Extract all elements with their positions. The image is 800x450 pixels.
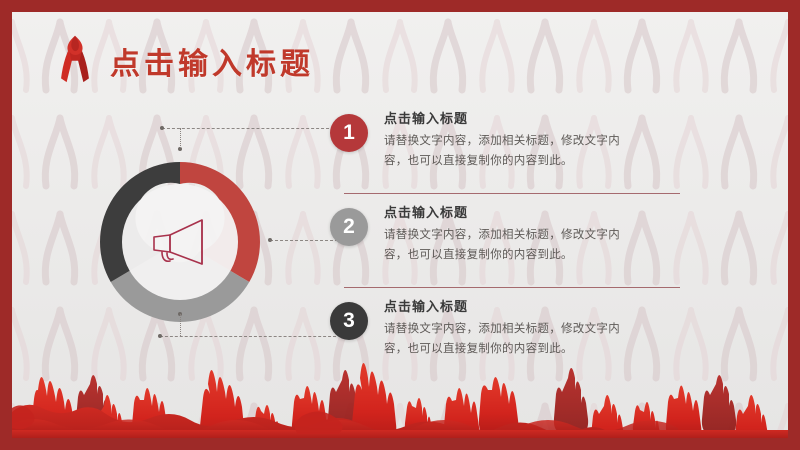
- item-title: 点击输入标题: [384, 108, 684, 127]
- page-title: 点击输入标题: [110, 39, 314, 83]
- item-number-badge: 1: [330, 114, 368, 152]
- item-description: 请替换文字内容，添加相关标题，修改文字内容，也可以直接复制你的内容到此。: [384, 225, 636, 265]
- aids-ribbon-icon: [52, 32, 98, 84]
- item-body: 点击输入标题 请替换文字内容，添加相关标题，修改文字内容，也可以直接复制你的内容…: [384, 296, 684, 359]
- item-divider: [344, 193, 680, 194]
- item-divider: [344, 287, 680, 288]
- list-item[interactable]: 2 点击输入标题 请替换文字内容，添加相关标题，修改文字内容，也可以直接复制你的…: [330, 202, 690, 296]
- donut-chart: [90, 152, 270, 332]
- list-item[interactable]: 3 点击输入标题 请替换文字内容，添加相关标题，修改文字内容，也可以直接复制你的…: [330, 296, 690, 390]
- item-description: 请替换文字内容，添加相关标题，修改文字内容，也可以直接复制你的内容到此。: [384, 319, 636, 359]
- megaphone-icon: [140, 202, 220, 282]
- item-body: 点击输入标题 请替换文字内容，添加相关标题，修改文字内容，也可以直接复制你的内容…: [384, 202, 684, 265]
- item-title: 点击输入标题: [384, 296, 684, 315]
- item-title: 点击输入标题: [384, 202, 684, 221]
- item-number-badge: 3: [330, 302, 368, 340]
- slide-header: 点击输入标题: [12, 26, 788, 86]
- feature-list: 1 点击输入标题 请替换文字内容，添加相关标题，修改文字内容，也可以直接复制你的…: [330, 108, 690, 390]
- slide-canvas: 点击输入标题: [0, 0, 800, 450]
- item-description: 请替换文字内容，添加相关标题，修改文字内容，也可以直接复制你的内容到此。: [384, 131, 636, 171]
- list-item[interactable]: 1 点击输入标题 请替换文字内容，添加相关标题，修改文字内容，也可以直接复制你的…: [330, 108, 690, 202]
- item-number-badge: 2: [330, 208, 368, 246]
- item-body: 点击输入标题 请替换文字内容，添加相关标题，修改文字内容，也可以直接复制你的内容…: [384, 108, 684, 171]
